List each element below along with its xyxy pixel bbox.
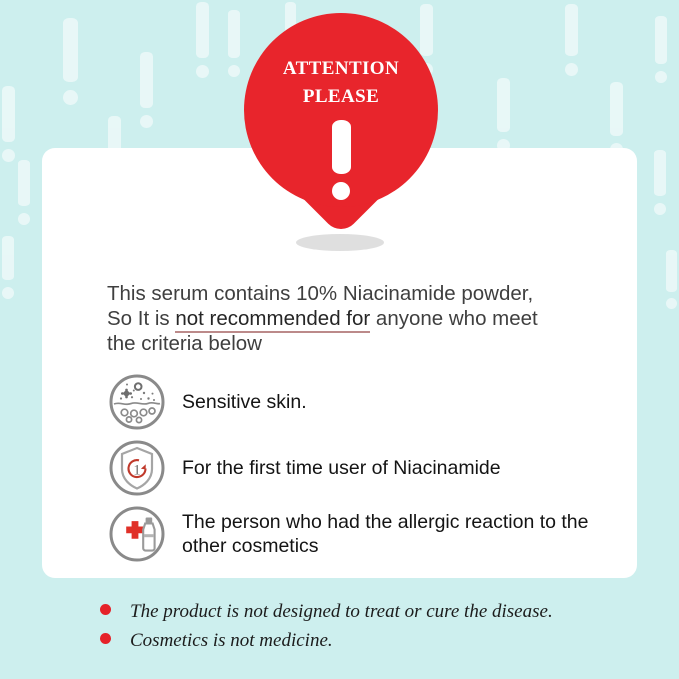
exclamation-dot [196, 65, 209, 78]
exclamation-dot [565, 63, 578, 76]
exclamation-bar [565, 4, 578, 56]
sensitive-skin-icon [108, 373, 166, 431]
list-item: The person who had the allergic reaction… [108, 505, 628, 563]
list-item: 1 For the first time user of Niacinamide [108, 439, 628, 497]
exclamation-bar [63, 18, 78, 82]
exclamation-bar [655, 16, 667, 64]
intro-line-3: the criteria below [107, 332, 262, 355]
bullet-icon [100, 604, 111, 615]
exclamation-bar [2, 236, 14, 280]
exclamation-dot [655, 71, 667, 83]
allergic-reaction-icon [108, 505, 166, 563]
list-item: The product is not designed to treat or … [100, 600, 640, 623]
exclamation-mark-icon [228, 10, 240, 77]
exclamation-dot [228, 65, 240, 77]
exclamation-mark-icon [655, 16, 667, 83]
exclamation-bar [497, 78, 510, 132]
criteria-list: Sensitive skin. 1 For the first time use… [108, 373, 628, 571]
exclamation-dot [2, 287, 14, 299]
disclaimer-label: The product is not designed to treat or … [130, 600, 553, 623]
exclamation-mark-icon [610, 82, 623, 156]
exclamation-mark-icon [654, 150, 666, 215]
exclamation-mark-icon [196, 2, 209, 78]
disclaimer-list: The product is not designed to treat or … [100, 600, 640, 658]
exclamation-bar [228, 10, 240, 58]
exclamation-dot [332, 182, 350, 200]
list-item-label: For the first time user of Niacinamide [182, 456, 501, 480]
exclamation-mark-icon [63, 18, 78, 105]
intro-line-2-post: anyone who meet [370, 307, 538, 330]
exclamation-bar [610, 82, 623, 136]
exclamation-mark-icon [18, 160, 30, 225]
exclamation-bar [196, 2, 209, 58]
list-item: Sensitive skin. [108, 373, 628, 431]
exclamation-mark-icon [565, 4, 578, 76]
pin-content: AttentionPlease [244, 13, 438, 207]
disclaimer-label: Cosmetics is not medicine. [130, 629, 333, 652]
bullet-icon [100, 633, 111, 644]
svg-text:1: 1 [133, 462, 141, 478]
list-item-label: The person who had the allergic reaction… [182, 510, 628, 558]
exclamation-dot [2, 149, 15, 162]
badge-title-line1: Attention [283, 50, 399, 80]
intro-paragraph: This serum contains 10% Niacinamide powd… [107, 281, 607, 356]
intro-emphasis: not recommended for [175, 307, 370, 333]
intro-line-1: This serum contains 10% Niacinamide powd… [107, 282, 533, 305]
exclamation-bar [332, 120, 351, 174]
exclamation-dot [654, 203, 666, 215]
pin-shadow [296, 234, 384, 251]
exclamation-bar [654, 150, 666, 196]
badge-title-line2: Please [283, 80, 399, 108]
exclamation-bar [18, 160, 30, 206]
attention-poster: AttentionPlease This serum contains 10% … [0, 0, 679, 679]
exclamation-dot [666, 298, 677, 309]
exclamation-mark-icon [497, 78, 510, 152]
exclamation-dot [140, 115, 153, 128]
exclamation-bar [2, 86, 15, 142]
badge-title: AttentionPlease [283, 52, 399, 107]
attention-badge: AttentionPlease [244, 13, 438, 235]
intro-line-2-pre: So It is [107, 307, 175, 330]
exclamation-bar [140, 52, 153, 108]
exclamation-dot [18, 213, 30, 225]
exclamation-bar [666, 250, 677, 292]
list-item: Cosmetics is not medicine. [100, 629, 640, 652]
exclamation-mark-icon [2, 236, 14, 299]
exclamation-mark-icon [140, 52, 153, 128]
exclamation-mark-icon [2, 86, 15, 162]
exclamation-mark-icon [332, 120, 351, 200]
first-time-shield-icon: 1 [108, 439, 166, 497]
exclamation-dot [63, 90, 78, 105]
list-item-label: Sensitive skin. [182, 390, 307, 414]
exclamation-mark-icon [666, 250, 677, 309]
